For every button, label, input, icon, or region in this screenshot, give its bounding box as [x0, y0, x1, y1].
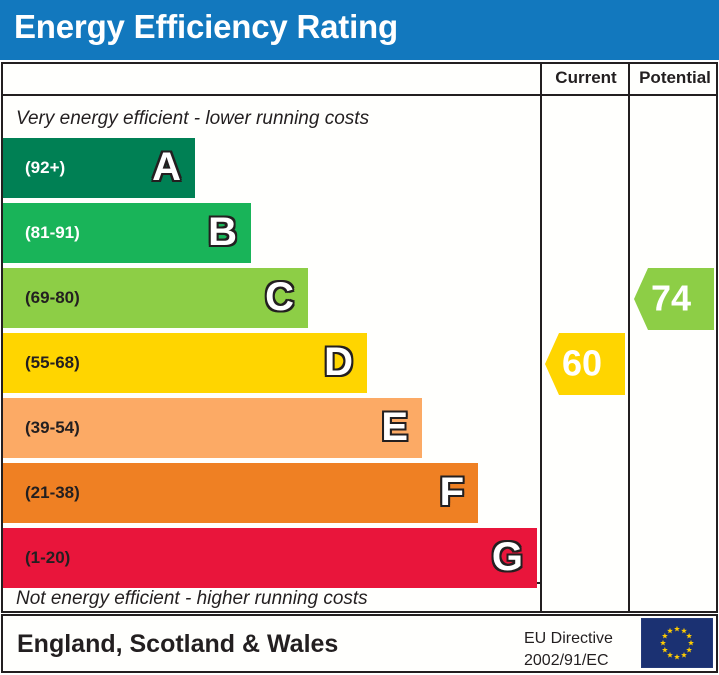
eu-star-icon	[681, 628, 687, 634]
caption-not-efficient: Not energy efficient - higher running co…	[16, 588, 368, 610]
rating-band-c: (69-80)C	[3, 268, 308, 328]
band-letter-e: E	[381, 407, 408, 447]
eu-star-icon	[688, 640, 694, 646]
eu-star-icon	[686, 633, 692, 639]
band-letter-a: A	[152, 147, 181, 187]
band-range-label: (1-20)	[25, 548, 70, 568]
band-range-label: (81-91)	[25, 223, 80, 243]
footer-directive-line2: 2002/91/EC	[524, 650, 613, 672]
band-range-label: (69-80)	[25, 288, 80, 308]
band-range-label: (92+)	[25, 158, 65, 178]
page-title: Energy Efficiency Rating	[14, 8, 398, 46]
band-letter-b: B	[208, 212, 237, 252]
band-letter-c: C	[265, 277, 294, 317]
band-letter-f: F	[440, 472, 464, 512]
footer-directive-line1: EU Directive	[524, 628, 613, 650]
rating-band-d: (55-68)D	[3, 333, 367, 393]
rating-band-b: (81-91)B	[3, 203, 251, 263]
band-letter-d: D	[324, 342, 353, 382]
column-divider-current	[540, 62, 542, 613]
column-header-row: Current Potential	[1, 62, 718, 96]
band-range-label: (21-38)	[25, 483, 80, 503]
rating-band-a: (92+)A	[3, 138, 195, 198]
rating-arrow-potential: 74	[634, 268, 714, 330]
eu-star-icon	[674, 626, 680, 632]
eu-star-icon	[674, 654, 680, 660]
band-range-label: (39-54)	[25, 418, 80, 438]
column-divider-potential	[628, 62, 630, 613]
eu-star-icon	[667, 628, 673, 634]
rating-arrow-current: 60	[545, 333, 625, 395]
eu-flag-stars-icon	[642, 619, 712, 667]
footer-region-label: England, Scotland & Wales	[17, 630, 338, 659]
rating-band-g: (1-20)G	[3, 528, 537, 588]
eu-star-icon	[667, 652, 673, 658]
eu-flag-icon	[641, 618, 713, 668]
rating-band-e: (39-54)E	[3, 398, 422, 458]
caption-very-efficient: Very energy efficient - lower running co…	[16, 108, 369, 130]
eu-star-icon	[686, 647, 692, 653]
eu-star-icon	[681, 652, 687, 658]
rating-value-current: 60	[545, 345, 619, 381]
eu-star-icon	[660, 640, 666, 646]
epc-rating-chart: Energy Efficiency Rating Current Potenti…	[0, 0, 719, 675]
eu-star-icon	[662, 647, 668, 653]
band-letter-g: G	[492, 537, 523, 577]
column-header-current: Current	[542, 62, 630, 94]
chart-title-bar: Energy Efficiency Rating	[0, 0, 719, 60]
eu-star-icon	[662, 633, 668, 639]
chart-footer: England, Scotland & Wales EU Directive 2…	[1, 614, 718, 673]
column-header-potential: Potential	[631, 62, 719, 94]
rating-value-potential: 74	[634, 280, 708, 316]
rating-band-f: (21-38)F	[3, 463, 478, 523]
footer-directive-label: EU Directive 2002/91/EC	[524, 628, 613, 671]
band-range-label: (55-68)	[25, 353, 80, 373]
